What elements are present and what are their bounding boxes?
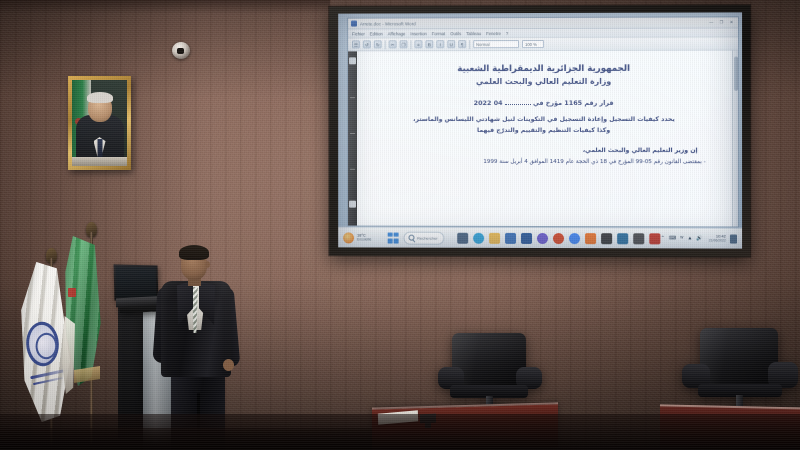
- doc-ref-middle: مؤرخ في: [533, 99, 562, 107]
- tray-network-icon[interactable]: ᵂ: [680, 236, 683, 241]
- word-icon[interactable]: [521, 232, 532, 243]
- presentation-screen-bezel: Arrete.doc - Microsoft Word — ❐ ✕ Fichie…: [329, 5, 750, 256]
- weather-description: Ensoleillé: [357, 238, 371, 241]
- file-explorer-icon[interactable]: [489, 232, 500, 243]
- ruler-tick: [350, 169, 355, 170]
- vertical-ruler: [348, 51, 357, 225]
- document-page: الجمهورية الجزائرية الديمقراطية الشعبية …: [373, 63, 716, 167]
- notification-center-icon[interactable]: [730, 234, 737, 243]
- toolbar-italic-button[interactable]: I: [436, 40, 444, 48]
- style-combo[interactable]: Normal: [473, 40, 519, 48]
- search-icon: [408, 235, 414, 241]
- doc-spacer: [373, 137, 716, 146]
- maximize-button[interactable]: ❐: [718, 19, 725, 25]
- toolbar-save-button[interactable]: ☰: [352, 40, 360, 48]
- official-portrait-frame: [68, 76, 131, 170]
- toolbar-separator-1: [385, 40, 386, 49]
- doc-body-line-1: يحدد كيفيات التسجيل وإعادة التسجيل في ال…: [373, 114, 716, 126]
- start-tile-1: [387, 232, 392, 237]
- powerpoint-icon[interactable]: [553, 233, 564, 244]
- toolbar-undo-button[interactable]: ↺: [363, 40, 371, 48]
- toolbar-align-button[interactable]: ≡: [414, 40, 422, 48]
- start-tile-3: [387, 238, 392, 243]
- vlc-icon[interactable]: [585, 233, 596, 244]
- toolbar-separator-2: [410, 40, 411, 49]
- word-app-icon: [351, 21, 357, 27]
- chair-backrest: [700, 328, 778, 386]
- chrome-icon[interactable]: [569, 233, 580, 244]
- doc-ref-year: 2022: [474, 99, 492, 107]
- official-portrait-image: [72, 80, 127, 166]
- store-icon[interactable]: [505, 232, 516, 243]
- toolbar-redo-button[interactable]: ↻: [374, 40, 382, 48]
- doc-body-line-2: وكذا كيفيات التنظيم والتقييم والتدرّج في…: [373, 125, 716, 137]
- doc-heading-ministry: وزارة التعليم العالي والبحث العلمي: [373, 76, 716, 89]
- menu-item-tableau[interactable]: Tableau: [466, 31, 481, 36]
- weather-sun-icon: [343, 232, 354, 243]
- pdf-icon[interactable]: [650, 233, 661, 244]
- minimize-button[interactable]: —: [708, 19, 715, 25]
- titlebar-spacer: [419, 23, 705, 24]
- taskbar-clock[interactable]: 10:42 21/06/2022: [709, 234, 726, 242]
- zoom-combo[interactable]: 100 %: [522, 40, 544, 48]
- doc-reference-line: قرار رقم 1165 مؤرخ في 04 2022: [373, 98, 716, 109]
- close-button[interactable]: ✕: [728, 19, 735, 25]
- dome-camera-icon: [172, 42, 190, 59]
- algerian-flag-crescent-icon: [68, 288, 76, 297]
- portrait-tie: [97, 139, 102, 157]
- doc-ref-prefix: قرار رقم: [584, 99, 613, 107]
- tray-expand-icon[interactable]: ⌃: [661, 236, 665, 241]
- weather-text: 18°C Ensoleillé: [357, 233, 371, 241]
- executive-chair-right: [676, 328, 800, 414]
- window-title: Arrete.doc - Microsoft Word: [360, 21, 416, 26]
- menu-item-insertion[interactable]: Insertion: [410, 31, 426, 36]
- os-desktop: Arrete.doc - Microsoft Word — ❐ ✕ Fichie…: [338, 12, 742, 248]
- presenter-hair: [179, 245, 209, 260]
- doc-ref-number: 1165: [564, 99, 582, 107]
- ruler-indent-marker[interactable]: [349, 57, 356, 64]
- taskview-icon[interactable]: [457, 232, 468, 243]
- taskbar-center-group: Rechercher: [387, 231, 660, 245]
- menu-item-edition[interactable]: Edition: [370, 31, 383, 36]
- tray-battery-icon[interactable]: ▲: [687, 236, 692, 241]
- volume-app-icon[interactable]: [617, 233, 628, 244]
- taskbar-weather-widget[interactable]: 18°C Ensoleillé: [343, 232, 387, 243]
- doc-heading-republic: الجمهورية الجزائرية الديمقراطية الشعبية: [373, 63, 716, 77]
- conference-hall-scene: Arrete.doc - Microsoft Word — ❐ ✕ Fichie…: [0, 0, 800, 450]
- floor: [0, 414, 800, 450]
- menu-item-affichage[interactable]: Affichage: [388, 31, 406, 36]
- teams-icon[interactable]: [537, 232, 548, 243]
- document-canvas[interactable]: الجمهورية الجزائرية الديمقراطية الشعبية …: [357, 51, 732, 227]
- portrait-hair: [87, 92, 113, 103]
- window-body: الجمهورية الجزائرية الديمقراطية الشعبية …: [348, 51, 738, 227]
- settings-icon[interactable]: [633, 233, 644, 244]
- doc-ref-day: 04: [494, 99, 503, 107]
- menu-item-aide[interactable]: ?: [506, 31, 508, 36]
- ruler-tick: [350, 97, 355, 98]
- search-placeholder: Rechercher: [417, 235, 438, 240]
- vertical-scrollbar[interactable]: [732, 51, 738, 227]
- presenter-right-hand: [223, 359, 234, 371]
- doc-ref-blank: [505, 104, 531, 105]
- windows-taskbar[interactable]: 18°C Ensoleillé Recher: [338, 226, 742, 248]
- clock-date: 21/06/2022: [709, 239, 726, 242]
- toolbar-cut-button[interactable]: ✂: [389, 40, 397, 48]
- tray-volume-icon[interactable]: 🔊: [696, 236, 702, 241]
- word-processor-window: Arrete.doc - Microsoft Word — ❐ ✕ Fichie…: [347, 16, 739, 227]
- ruler-tick: [350, 133, 355, 134]
- toolbar-bold-button[interactable]: B: [425, 40, 433, 48]
- taskbar-system-tray[interactable]: ⌃ ⌨ ᵂ ▲ 🔊 10:42 21/06/2022: [661, 234, 737, 243]
- presentation-screen: Arrete.doc - Microsoft Word — ❐ ✕ Fichie…: [338, 12, 742, 248]
- ruler-indent-marker-2[interactable]: [349, 201, 356, 208]
- menu-item-fenetre[interactable]: Fenetre: [486, 31, 501, 36]
- ceiling-junction: [0, 0, 330, 14]
- doc-lead-line: إن وزير التعليم العالي والبحث العلمي،: [373, 146, 716, 157]
- presenter-ear: [205, 261, 210, 268]
- start-tile-4: [393, 238, 398, 243]
- menu-item-fichier[interactable]: Fichier: [352, 31, 365, 36]
- taskbar-search-box[interactable]: Rechercher: [403, 231, 444, 244]
- portrait-desk: [72, 157, 127, 166]
- toolbar-underline-button[interactable]: U: [447, 40, 455, 48]
- start-tile-2: [393, 232, 398, 237]
- toolbar-separator-3: [469, 40, 470, 49]
- toolbar-pilcrow-button[interactable]: ¶: [458, 40, 466, 48]
- toolbar[interactable]: ☰ ↺ ↻ ✂ ❐ ≡ B I U ¶ Normal 10: [348, 37, 738, 51]
- edge-icon[interactable]: [473, 232, 484, 243]
- doc-citation-line: - بمقتضى القانون رقم 05-99 المؤرخ في 18 …: [373, 156, 716, 166]
- start-button[interactable]: [387, 232, 398, 243]
- tray-keyboard-icon[interactable]: ⌨: [669, 236, 676, 241]
- menu-item-outils[interactable]: Outils: [450, 31, 461, 36]
- toolbar-copy-button[interactable]: ❐: [400, 40, 408, 48]
- photos-icon[interactable]: [601, 233, 612, 244]
- menu-item-format[interactable]: Format: [432, 31, 446, 36]
- presenter-laptop-screen: [116, 266, 157, 298]
- scrollbar-thumb[interactable]: [734, 57, 738, 91]
